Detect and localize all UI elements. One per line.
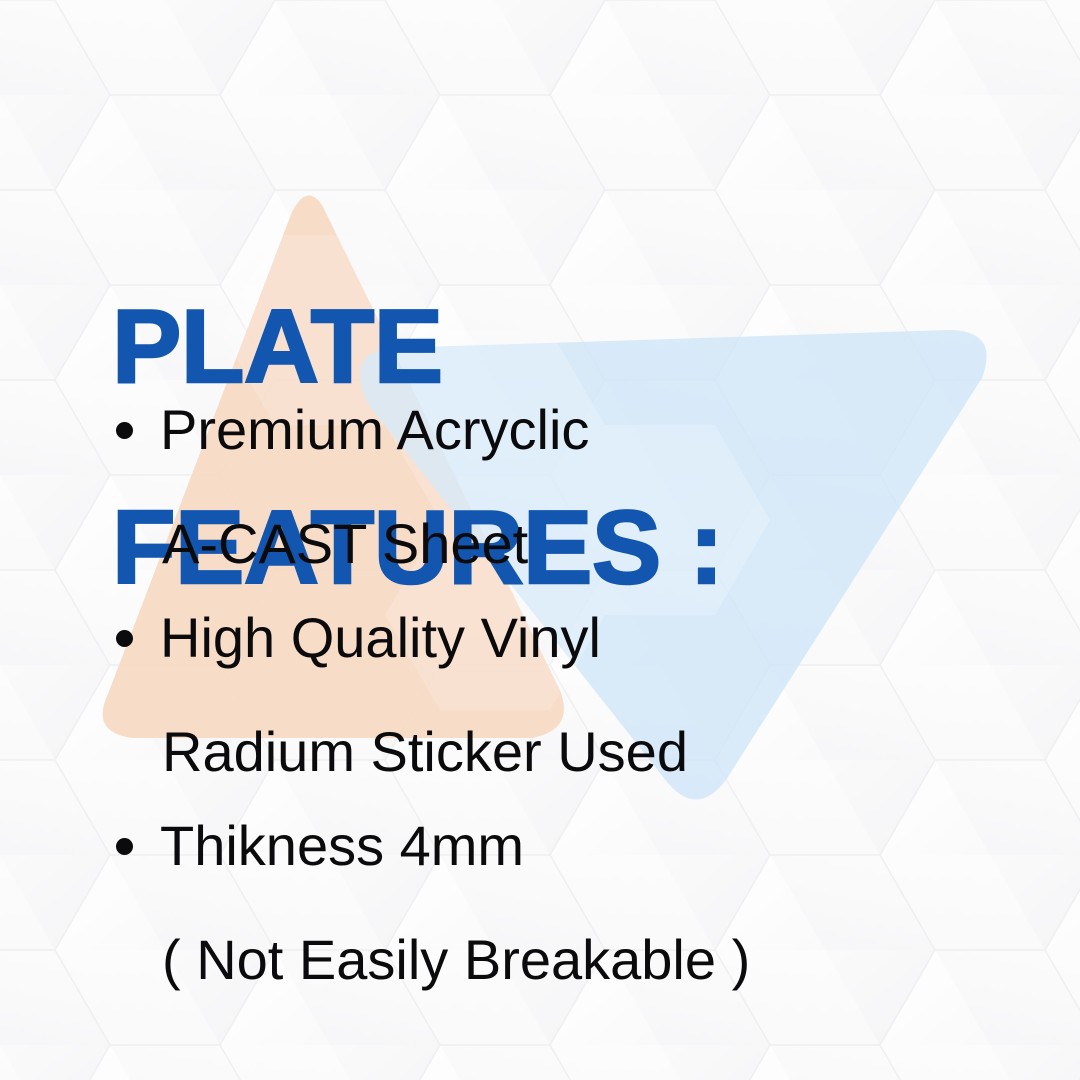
feature-line-secondary: ( Not Easily Breakable ) (162, 910, 1044, 1010)
feature-line-primary: Premium Acryclic (160, 396, 589, 464)
feature-line-primary: High Quality Vinyl (160, 604, 601, 672)
list-item: Thikness 4mm ( Not Easily Breakable ) (104, 812, 1044, 1010)
bullet-dot-icon (104, 604, 160, 672)
features-list: Premium Acryclic A-CAST Sheet High Quali… (104, 396, 1044, 1020)
page-title-line-1: PLATE (112, 297, 1012, 398)
feature-line-secondary: Radium Sticker Used (162, 702, 1044, 802)
list-item: Premium Acryclic A-CAST Sheet (104, 396, 1044, 594)
content-layer: PLATE FEATURES : Premium Acryclic A-CAST… (0, 0, 1080, 1080)
poster-canvas: PLATE FEATURES : Premium Acryclic A-CAST… (0, 0, 1080, 1080)
bullet-dot-icon (104, 812, 160, 880)
list-item: High Quality Vinyl Radium Sticker Used (104, 604, 1044, 802)
feature-line-secondary: A-CAST Sheet (162, 494, 1044, 594)
feature-line-primary: Thikness 4mm (160, 812, 524, 880)
bullet-dot-icon (104, 396, 160, 464)
